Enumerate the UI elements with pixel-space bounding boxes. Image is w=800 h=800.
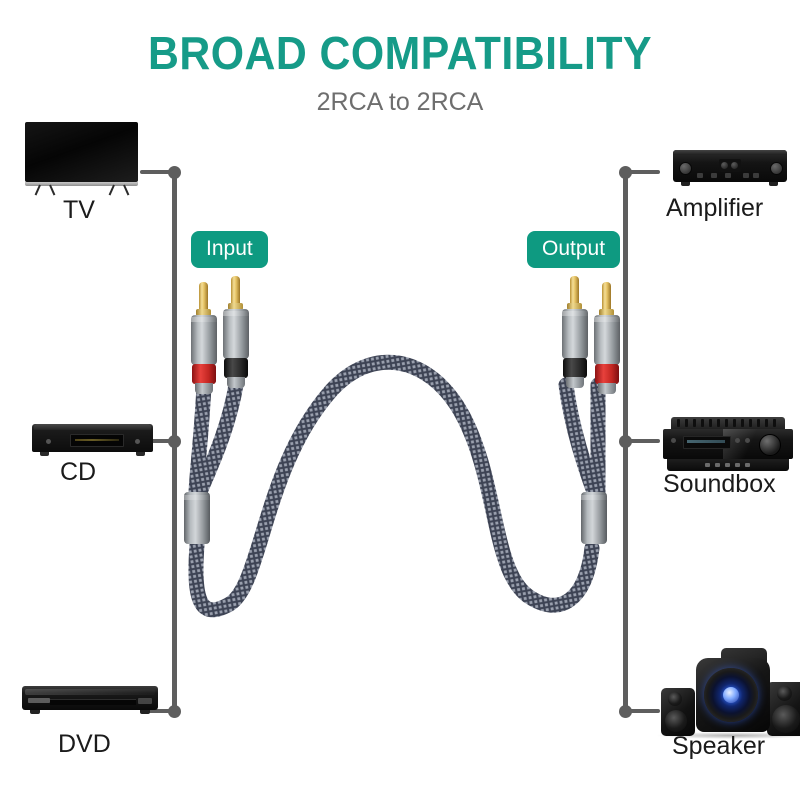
y-splitter-output <box>581 492 607 544</box>
rca-ring-black <box>224 358 248 378</box>
rca-ring-red <box>595 364 619 384</box>
rca-pin <box>570 276 579 306</box>
rca-barrel <box>562 309 588 359</box>
rca-strain-relief <box>566 377 584 388</box>
rca-ring-black <box>563 358 587 378</box>
rca-strain-relief <box>598 383 616 394</box>
rca-barrel <box>223 309 249 359</box>
rca-strain-relief <box>195 383 213 394</box>
rca-barrel <box>191 315 217 365</box>
rca-pin <box>199 282 208 312</box>
cable-right-branch-a <box>566 385 594 492</box>
rca-barrel <box>594 315 620 365</box>
rca-cable-graphic <box>0 0 800 800</box>
cable-main-run <box>196 362 592 610</box>
rca-pin <box>231 276 240 306</box>
rca-pin <box>602 282 611 312</box>
y-splitter-input <box>184 492 210 544</box>
rca-ring-red <box>192 364 216 384</box>
rca-strain-relief <box>227 377 245 388</box>
